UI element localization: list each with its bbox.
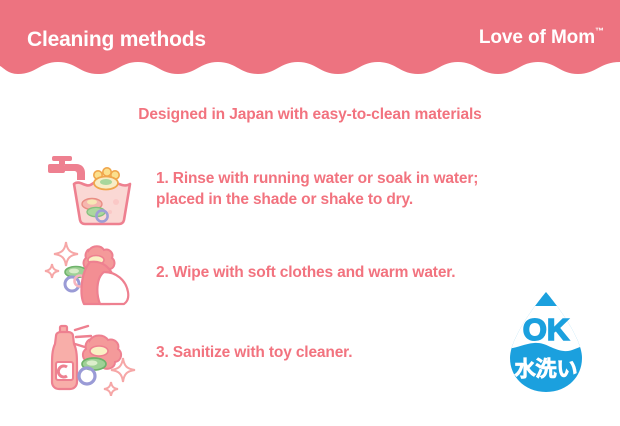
badge-japanese-text: 水洗い [515, 357, 578, 381]
spray-bottle-sparkle-icon [44, 320, 140, 401]
water-drop-washable-badge-icon: OK 水洗い [494, 288, 598, 400]
brand-logo: Love of Mom™ [479, 27, 604, 49]
subtitle-text: Designed in Japan with easy-to-clean mat… [0, 106, 620, 124]
header-bar: Cleaning methods Love of Mom™ [0, 0, 620, 82]
faucet-basin-icon [44, 150, 140, 231]
step-row: 1. Rinse with running water or soak in w… [0, 150, 620, 231]
cloth-wipe-sparkle-icon [44, 236, 140, 313]
step-text: 1. Rinse with running water or soak in w… [156, 150, 620, 210]
step-text: 2. Wipe with soft clothes and warm water… [156, 236, 620, 283]
page-title: Cleaning methods [27, 28, 206, 52]
trademark-symbol: ™ [595, 26, 604, 36]
badge-ok-text: OK [523, 312, 570, 347]
brand-name: Love of Mom [479, 27, 595, 48]
